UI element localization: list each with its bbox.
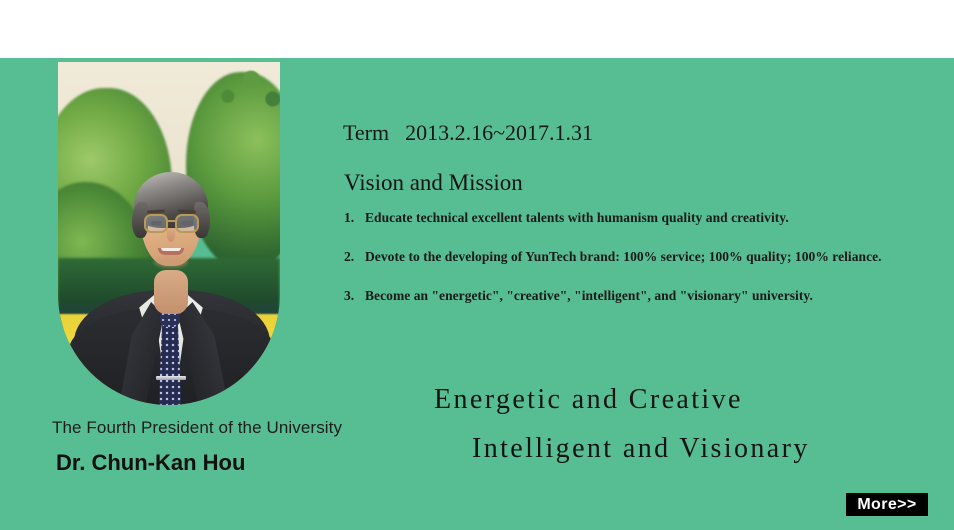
term-label: Term	[343, 120, 389, 145]
term-value: 2013.2.16~2017.1.31	[405, 120, 593, 145]
list-item-text: Become an "energetic", "creative", "inte…	[365, 288, 813, 303]
list-item: 3. Become an "energetic", "creative", "i…	[344, 288, 904, 304]
photo-tie-clip	[156, 376, 186, 380]
list-item: 2. Devote to the developing of YunTech b…	[344, 249, 904, 265]
list-item-number: 1.	[344, 210, 354, 226]
president-role-caption: The Fourth President of the University	[52, 418, 342, 438]
photo-eyeglasses-bridge	[167, 220, 176, 222]
top-white-bar	[0, 0, 954, 58]
list-item: 1. Educate technical excellent talents w…	[344, 210, 904, 226]
slide-root: The Fourth President of the University D…	[0, 0, 954, 530]
list-item-number: 3.	[344, 288, 354, 304]
president-name: Dr. Chun-Kan Hou	[56, 450, 245, 476]
slogan-line-1: Energetic and Creative	[330, 375, 850, 424]
vision-and-mission-heading: Vision and Mission	[344, 170, 523, 196]
term-line: Term2013.2.16~2017.1.31	[343, 120, 593, 146]
list-item-number: 2.	[344, 249, 354, 265]
photo-nose	[167, 228, 175, 242]
president-portrait-photo	[58, 62, 280, 405]
slogan-line-2: Intelligent and Visionary	[330, 424, 850, 473]
photo-chin-shadow	[154, 256, 188, 268]
list-item-text: Educate technical excellent talents with…	[365, 210, 789, 225]
photo-eyeglasses-left-lens	[144, 214, 168, 233]
photo-teeth	[161, 248, 181, 251]
slogan-block: Energetic and Creative Intelligent and V…	[330, 375, 850, 473]
mission-list: 1. Educate technical excellent talents w…	[344, 210, 904, 327]
list-item-text: Devote to the developing of YunTech bran…	[365, 249, 882, 264]
more-button[interactable]: More>>	[846, 493, 928, 516]
photo-neck	[154, 270, 188, 314]
photo-branch	[208, 62, 280, 128]
photo-eyeglasses-right-lens	[175, 214, 199, 233]
